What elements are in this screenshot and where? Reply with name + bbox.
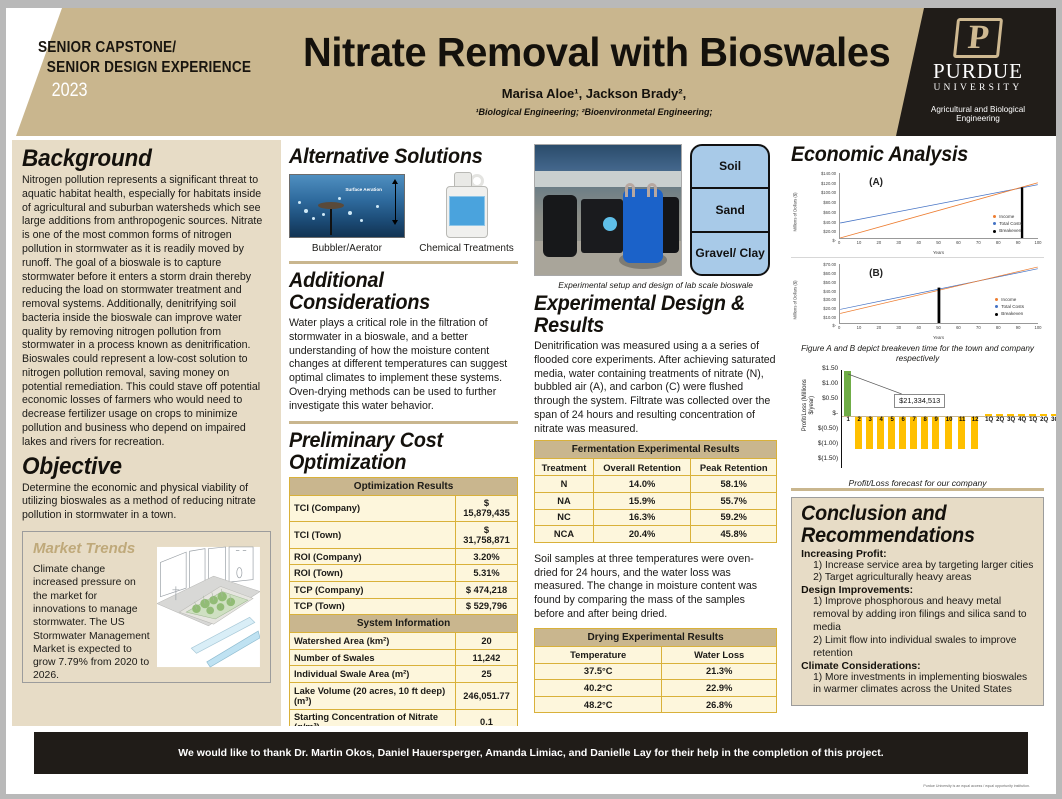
- chart-a-legend: Income Total Costs Breakeven: [993, 213, 1022, 234]
- capstone-block: SENIOR CAPSTONE/ SENIOR DESIGN EXPERIENC…: [38, 38, 298, 102]
- bioswale-illustration: [157, 540, 260, 674]
- profit-loss-yticks: $1.50 $1.00 $0.50 $- $(0.50) $(1.00) $(1…: [805, 368, 839, 468]
- fermentation-header-peak: Peak Retention: [691, 459, 777, 476]
- ytick: $-: [832, 238, 836, 243]
- row-label: ROI (Company): [289, 548, 455, 565]
- ytick: $-: [832, 323, 836, 328]
- conclusion-item: 2) Limit flow into individual swales to …: [801, 635, 1034, 661]
- blue-drum: [623, 189, 663, 263]
- row-value: 25: [455, 666, 517, 683]
- chart-b: Millions of Dollars ($) $70.00 $60.00 $5…: [791, 260, 1044, 340]
- legend-swatch-breakeven: [995, 313, 998, 316]
- drying-text: Soil samples at three temperatures were …: [534, 553, 777, 622]
- row-value: 3.20%: [455, 548, 517, 565]
- xtick: 60: [956, 325, 961, 330]
- xtick: 7: [912, 417, 915, 423]
- xtick: 30: [896, 325, 901, 330]
- ytick: $120.00: [821, 181, 836, 186]
- legend-item-total-costs: Total Costs: [993, 220, 1022, 227]
- blue-balloon: [603, 217, 617, 231]
- bubble-icon: [338, 197, 341, 200]
- affiliation-list: ¹Biological Engineering; ²Bioenvironmeta…: [294, 107, 894, 117]
- legend-item-breakeven: Breakeven: [993, 227, 1022, 234]
- chart-a-xticks: 0 10 20 30 40 50 60 70 80 90 100: [839, 240, 1038, 248]
- ytick: $40.00: [823, 220, 836, 225]
- row-value: 11,242: [455, 649, 517, 666]
- row-label: Lake Volume (20 acres, 10 ft deep) (m³): [289, 682, 455, 709]
- conclusion-item: 1) Increase service area by targeting la…: [801, 560, 1034, 573]
- table-row: Lake Volume (20 acres, 10 ft deep) (m³)2…: [289, 682, 517, 709]
- xtick: 12: [972, 417, 979, 423]
- background-text: Nitrogen pollution represents a signific…: [22, 174, 271, 449]
- experimental-setup-caption: Experimental setup and design of lab sca…: [534, 280, 777, 290]
- legend-swatch-income: [993, 215, 996, 218]
- xtick: 1: [846, 417, 849, 423]
- row-label: Watershed Area (km²): [289, 633, 455, 650]
- table-row: TCI (Company)$ 15,879,435: [289, 495, 517, 522]
- additional-considerations-heading: Additional Considerations: [289, 270, 504, 314]
- xtick: 1Q: [985, 417, 993, 423]
- cell: 14.0%: [593, 476, 690, 493]
- drying-title: Drying Experimental Results: [535, 628, 777, 646]
- conclusion-item: 1) More investments in implementing bios…: [801, 672, 1034, 698]
- table-row: TCP (Company)$ 474,218: [289, 581, 517, 598]
- purdue-wordmark: PURDUE: [908, 60, 1048, 82]
- purdue-logo-block: P PURDUE UNIVERSITY Agricultural and Bio…: [908, 18, 1048, 123]
- legend-label: Breakeven: [999, 228, 1021, 233]
- optimization-results-title: Optimization Results: [289, 477, 517, 495]
- poster-body: Background Nitrogen pollution represents…: [6, 136, 1056, 726]
- bubble-icon: [348, 211, 352, 215]
- table-row: NA15.9%55.7%: [535, 493, 777, 510]
- drying-header-temperature: Temperature: [535, 646, 662, 663]
- additional-considerations-text: Water plays a critical role in the filtr…: [289, 317, 518, 413]
- capstone-year: 2023: [38, 80, 259, 102]
- cell: 15.9%: [593, 493, 690, 510]
- cell: 21.3%: [662, 663, 777, 680]
- aerator-item: Surface Aeration Bubbler/Aerator: [289, 174, 405, 254]
- profit-loss-caption: Profit/Loss forecast for our company: [791, 478, 1044, 488]
- objective-text: Determine the economic and physical viab…: [22, 482, 271, 523]
- column-experimental: Soil Sand Gravel/ Clay Experimental setu…: [526, 140, 785, 726]
- xtick: 50: [936, 240, 941, 245]
- ytick: $140.00: [821, 171, 836, 176]
- optimization-results-table: Optimization Results TCI (Company)$ 15,8…: [289, 477, 518, 753]
- xtick: 2: [857, 417, 860, 423]
- xtick: 20: [877, 240, 882, 245]
- aerator-stem: [330, 205, 332, 235]
- conclusion-item: 1) Improve phosphorous and heavy metal r…: [801, 596, 1034, 635]
- economic-analysis-heading: Economic Analysis: [791, 144, 1029, 166]
- table-row: TCI (Town)$ 31,758,871: [289, 522, 517, 549]
- chart-a-yticks: $140.00 $120.00 $100.00 $80.00 $60.00 $4…: [809, 171, 837, 239]
- xtick: 80: [996, 240, 1001, 245]
- author-list: Marisa Aloe¹, Jackson Brady²,: [294, 86, 894, 101]
- conclusion-group-head: Design Improvements:: [801, 585, 1034, 596]
- divider: [791, 488, 1044, 491]
- column-economic: Economic Analysis Millions of Dollars ($…: [785, 140, 1050, 726]
- ytick: $40.00: [823, 289, 836, 294]
- bubble-icon: [360, 219, 363, 222]
- table-row: NC16.3%59.2%: [535, 509, 777, 526]
- chart-divider: [791, 257, 1044, 258]
- row-value: 246,051.77: [455, 682, 517, 709]
- black-drum: [543, 195, 577, 257]
- row-label: Individual Swale Area (m²): [289, 666, 455, 683]
- poster-header: SENIOR CAPSTONE/ SENIOR DESIGN EXPERIENC…: [6, 8, 1056, 136]
- ytick: $1.50: [822, 365, 838, 372]
- cell: 37.5°C: [535, 663, 662, 680]
- fermentation-title: Fermentation Experimental Results: [535, 441, 777, 459]
- market-trends-text-block: Market Trends Climate change increased p…: [33, 540, 151, 674]
- xtick: 10: [857, 240, 862, 245]
- alternative-solutions-heading: Alternative Solutions: [289, 146, 504, 168]
- table-row: 37.5°C21.3%: [535, 663, 777, 680]
- purdue-p-icon: P: [953, 18, 1003, 58]
- xtick: 70: [976, 325, 981, 330]
- experimental-setup-images: Soil Sand Gravel/ Clay: [534, 144, 777, 276]
- legend-swatch-breakeven: [993, 230, 996, 233]
- background-heading: Background: [22, 146, 256, 171]
- legend-item-breakeven: Breakeven: [995, 310, 1024, 317]
- chart-a-ylabel: Millions of Dollars ($): [793, 182, 798, 242]
- xtick: 100: [1035, 325, 1042, 330]
- row-value: 20: [455, 633, 517, 650]
- xtick: 0: [838, 325, 840, 330]
- profit-callout: $21,334,513: [894, 394, 945, 408]
- page-title: Nitrate Removal with Bioswales: [303, 32, 885, 73]
- divider: [289, 261, 518, 264]
- row-label: TCP (Company): [289, 581, 455, 598]
- row-label: TCI (Town): [289, 522, 455, 549]
- xtick: 40: [916, 325, 921, 330]
- capstone-line-1: SENIOR CAPSTONE/: [38, 38, 267, 58]
- legend-label: Income: [1001, 297, 1016, 302]
- divider: [289, 421, 518, 424]
- acknowledgement-text: We would like to thank Dr. Martin Okos, …: [178, 747, 883, 759]
- ytick: $80.00: [823, 200, 836, 205]
- experimental-text: Denitrification was measured using a a s…: [534, 340, 777, 436]
- xtick: 50: [936, 325, 941, 330]
- market-trends-heading: Market Trends: [33, 540, 151, 557]
- xtick: 6: [901, 417, 904, 423]
- legend-label: Total Costs: [1001, 304, 1024, 309]
- xtick: 11: [959, 417, 965, 423]
- xtick: 5: [890, 417, 893, 423]
- layer-sand: Sand: [692, 187, 768, 230]
- xtick: 3Q: [1051, 417, 1056, 423]
- profit-loss-chart: Profit/Loss (Millions $/year) $1.50 $1.0…: [791, 368, 1044, 486]
- xtick: 3Q: [1007, 417, 1015, 423]
- chemical-bottle-image: [442, 172, 492, 238]
- bioswale-layer-diagram: Soil Sand Gravel/ Clay: [690, 144, 770, 276]
- layer-soil: Soil: [692, 146, 768, 187]
- ytick: $(0.50): [818, 425, 838, 432]
- bubble-icon: [312, 217, 315, 220]
- cell: 45.8%: [691, 526, 777, 543]
- xtick: 20: [877, 325, 882, 330]
- aeration-arrow-icon: [395, 183, 396, 221]
- ytick: $60.00: [823, 210, 836, 215]
- bubbler-aerator-image: Surface Aeration: [289, 174, 405, 238]
- table-row: ROI (Town)5.31%: [289, 565, 517, 582]
- ytick: $70.00: [823, 262, 836, 267]
- chart-b-ylabel: Millions of Dollars ($): [793, 270, 798, 330]
- cell: NCA: [535, 526, 594, 543]
- row-label: TCP (Town): [289, 598, 455, 615]
- cell: 58.1%: [691, 476, 777, 493]
- table-row: Watershed Area (km²)20: [289, 633, 517, 650]
- market-trends-card: Market Trends Climate change increased p…: [22, 531, 271, 683]
- bubble-icon: [322, 213, 325, 216]
- market-trends-text: Climate change increased pressure on the…: [33, 563, 151, 683]
- ytick: $1.00: [822, 380, 838, 387]
- legend-swatch-total-costs: [993, 222, 996, 225]
- row-label: TCI (Company): [289, 495, 455, 522]
- layer-gravel-clay: Gravel/ Clay: [692, 231, 768, 274]
- xtick: 10: [857, 325, 862, 330]
- cell: NA: [535, 493, 594, 510]
- drying-results-table: Drying Experimental Results Temperature …: [534, 628, 777, 714]
- hose-icon: [625, 183, 635, 197]
- chart-a-xlabel: Years: [839, 250, 1038, 255]
- xtick: 2Q: [996, 417, 1004, 423]
- row-value: $ 529,796: [455, 598, 517, 615]
- conclusion-item: 2) Target agriculturally heavy areas: [801, 572, 1034, 585]
- lab-setup-photo: [534, 144, 682, 276]
- table-row: N14.0%58.1%: [535, 476, 777, 493]
- row-label: Number of Swales: [289, 649, 455, 666]
- column-background: Background Nitrogen pollution represents…: [12, 140, 281, 726]
- cell: 20.4%: [593, 526, 690, 543]
- chart-a: Millions of Dollars ($) $140.00 $120.00 …: [791, 169, 1044, 255]
- ytick: $0.50: [822, 395, 838, 402]
- xtick: 60: [956, 240, 961, 245]
- ytick: $(1.50): [818, 455, 838, 462]
- table-row: NCA20.4%45.8%: [535, 526, 777, 543]
- purdue-department-text: Agricultural and Biological Engineering: [908, 105, 1048, 123]
- system-information-title: System Information: [289, 615, 517, 633]
- bubble-icon: [304, 209, 308, 213]
- xtick: 80: [996, 325, 1001, 330]
- legend-label: Breakeven: [1001, 311, 1023, 316]
- profit-loss-plot: $21,334,513 1 2 3 4 5 6 7 8 9 10 11 12 1…: [841, 370, 1040, 468]
- cell: 16.3%: [593, 509, 690, 526]
- column-solutions: Alternative Solutions Surface Aeration: [281, 140, 526, 726]
- ytick: $50.00: [823, 280, 836, 285]
- table-row: 40.2°C22.9%: [535, 680, 777, 697]
- ytick: $10.00: [823, 315, 836, 320]
- chart-b-legend: Income Total Costs Breakeven: [995, 296, 1024, 317]
- xtick: 8: [923, 417, 926, 423]
- cell: N: [535, 476, 594, 493]
- table-row: TCP (Town)$ 529,796: [289, 598, 517, 615]
- legend-label: Income: [999, 214, 1014, 219]
- legend-item-income: Income: [995, 296, 1024, 303]
- purdue-university-text: UNIVERSITY: [908, 83, 1048, 93]
- conclusion-heading: Conclusion and Recommendations: [801, 503, 1020, 547]
- row-value: 5.31%: [455, 565, 517, 582]
- xtick: 9: [934, 417, 937, 423]
- cell: 55.7%: [691, 493, 777, 510]
- xtick: 1Q: [1029, 417, 1037, 423]
- drying-header-water-loss: Water Loss: [662, 646, 777, 663]
- legend-swatch-income: [995, 298, 998, 301]
- row-label: ROI (Town): [289, 565, 455, 582]
- ytick: $20.00: [823, 229, 836, 234]
- capstone-line-2: SENIOR DESIGN EXPERIENCE: [38, 58, 267, 78]
- cost-optimization-heading: Preliminary Cost Optimization: [289, 430, 504, 474]
- xtick: 3: [868, 417, 871, 423]
- cell: 59.2%: [691, 509, 777, 526]
- legend-swatch-total-costs: [995, 305, 998, 308]
- ytick: $-: [832, 410, 838, 417]
- row-value: $ 474,218: [455, 581, 517, 598]
- ytick: $20.00: [823, 306, 836, 311]
- table-row: Individual Swale Area (m²)25: [289, 666, 517, 683]
- aerator-disc: [318, 202, 344, 209]
- table-row: ROI (Company)3.20%: [289, 548, 517, 565]
- cell: 48.2°C: [535, 696, 662, 713]
- xtick: 90: [1016, 325, 1021, 330]
- cell: 22.9%: [662, 680, 777, 697]
- chemical-item: Chemical Treatments: [415, 172, 518, 254]
- surface-aeration-label: Surface Aeration: [345, 187, 382, 193]
- xtick: 4: [879, 417, 882, 423]
- hose-icon: [647, 183, 657, 197]
- xtick: 0: [838, 240, 840, 245]
- black-box: [581, 199, 623, 253]
- author-list-text: Marisa Aloe¹, Jackson Brady²,: [502, 86, 686, 101]
- legend-label: Total Costs: [999, 221, 1022, 226]
- chart-b-xlabel: Years: [839, 335, 1038, 340]
- chemical-treatments-caption: Chemical Treatments: [415, 243, 518, 254]
- bottle-label: [449, 196, 485, 226]
- xtick: 90: [1016, 240, 1021, 245]
- xtick: 2Q: [1040, 417, 1048, 423]
- ytick: $(1.00): [818, 440, 838, 447]
- bubbler-aerator-caption: Bubbler/Aerator: [289, 243, 405, 254]
- xtick: 30: [896, 240, 901, 245]
- poster-canvas: SENIOR CAPSTONE/ SENIOR DESIGN EXPERIENC…: [6, 8, 1056, 794]
- cell: 26.8%: [662, 696, 777, 713]
- conclusion-group-head: Increasing Profit:: [801, 549, 1034, 560]
- conclusion-group-head: Climate Considerations:: [801, 661, 1034, 672]
- xtick: 70: [976, 240, 981, 245]
- xtick: 10: [946, 417, 953, 423]
- chart-b-xticks: 0 10 20 30 40 50 60 70 80 90 100: [839, 325, 1038, 333]
- objective-heading: Objective: [22, 454, 256, 479]
- fermentation-header-treatment: Treatment: [535, 459, 594, 476]
- xtick: 40: [916, 240, 921, 245]
- fine-print: Purdue University is an equal access / e…: [923, 784, 1030, 788]
- poster-footer: We would like to thank Dr. Martin Okos, …: [6, 726, 1056, 794]
- affiliation-text: ¹Biological Engineering; ²Bioenvironmeta…: [475, 107, 712, 117]
- xtick: 100: [1035, 240, 1042, 245]
- cell: NC: [535, 509, 594, 526]
- legend-item-income: Income: [993, 213, 1022, 220]
- table-row: 48.2°C26.8%: [535, 696, 777, 713]
- legend-item-total-costs: Total Costs: [995, 303, 1024, 310]
- fermentation-header-overall: Overall Retention: [593, 459, 690, 476]
- row-value: $ 31,758,871: [455, 522, 517, 549]
- chart-b-yticks: $70.00 $60.00 $50.00 $40.00 $30.00 $20.0…: [809, 262, 837, 324]
- row-value: $ 15,879,435: [455, 495, 517, 522]
- xtick: 4Q: [1018, 417, 1026, 423]
- bioswale-street-sketch-icon: [157, 540, 260, 674]
- fermentation-results-table: Fermentation Experimental Results Treatm…: [534, 440, 777, 542]
- conclusion-card: Conclusion and Recommendations Increasin…: [791, 497, 1044, 707]
- ytick: $60.00: [823, 271, 836, 276]
- acknowledgement-bar: We would like to thank Dr. Martin Okos, …: [34, 732, 1028, 774]
- bubble-icon: [298, 201, 301, 204]
- table-row: Number of Swales11,242: [289, 649, 517, 666]
- economic-figure-caption: Figure A and B depict breakeven time for…: [797, 344, 1038, 365]
- experimental-heading: Experimental Design & Results: [534, 293, 762, 337]
- ytick: $100.00: [821, 190, 836, 195]
- ytick: $30.00: [823, 297, 836, 302]
- alternative-solutions-images: Surface Aeration Bubbler/Aerator: [289, 172, 518, 254]
- lab-bench: [535, 171, 681, 187]
- cell: 40.2°C: [535, 680, 662, 697]
- bubble-icon: [376, 205, 379, 208]
